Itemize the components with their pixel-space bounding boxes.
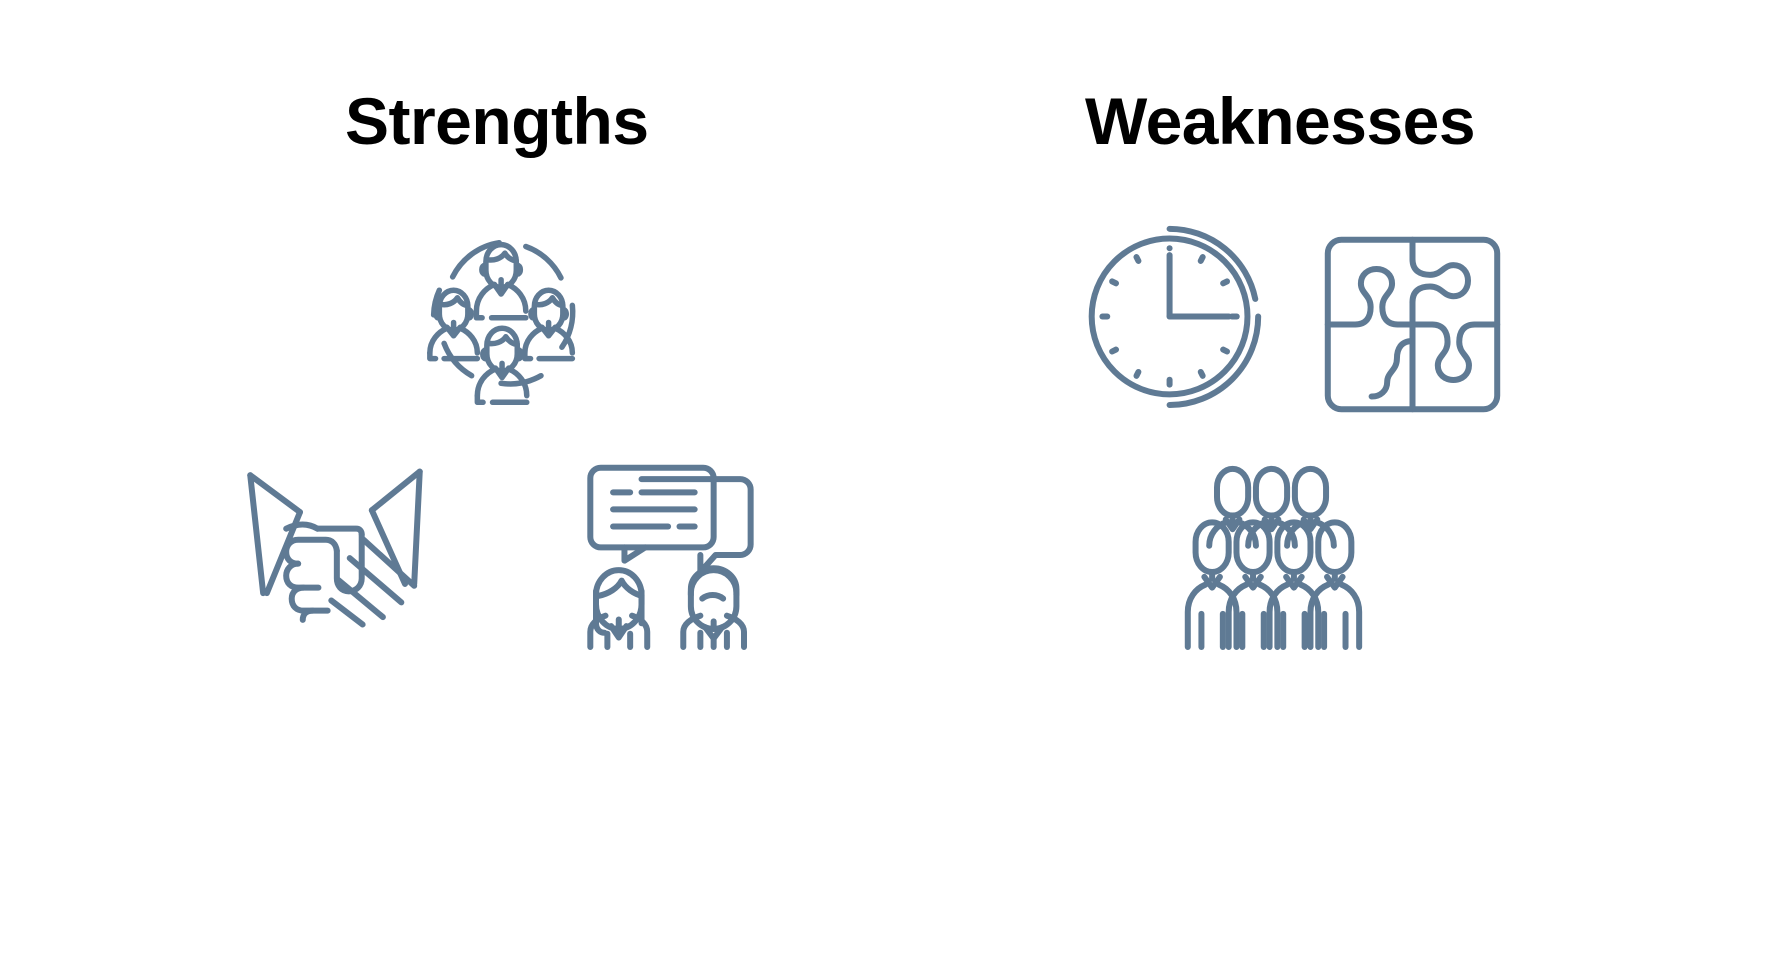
team-circle-icon: [408, 218, 598, 408]
puzzle-icon: [1320, 232, 1505, 417]
handshake-icon: [240, 455, 430, 630]
swot-slide: Strengths Weaknesses: [0, 0, 1773, 976]
clock-icon: [1080, 222, 1265, 407]
heading-weaknesses: Weaknesses: [1085, 88, 1475, 154]
heading-strengths: Strengths: [345, 88, 649, 154]
conversation-icon: [575, 462, 765, 647]
crowd-icon: [1180, 462, 1365, 647]
